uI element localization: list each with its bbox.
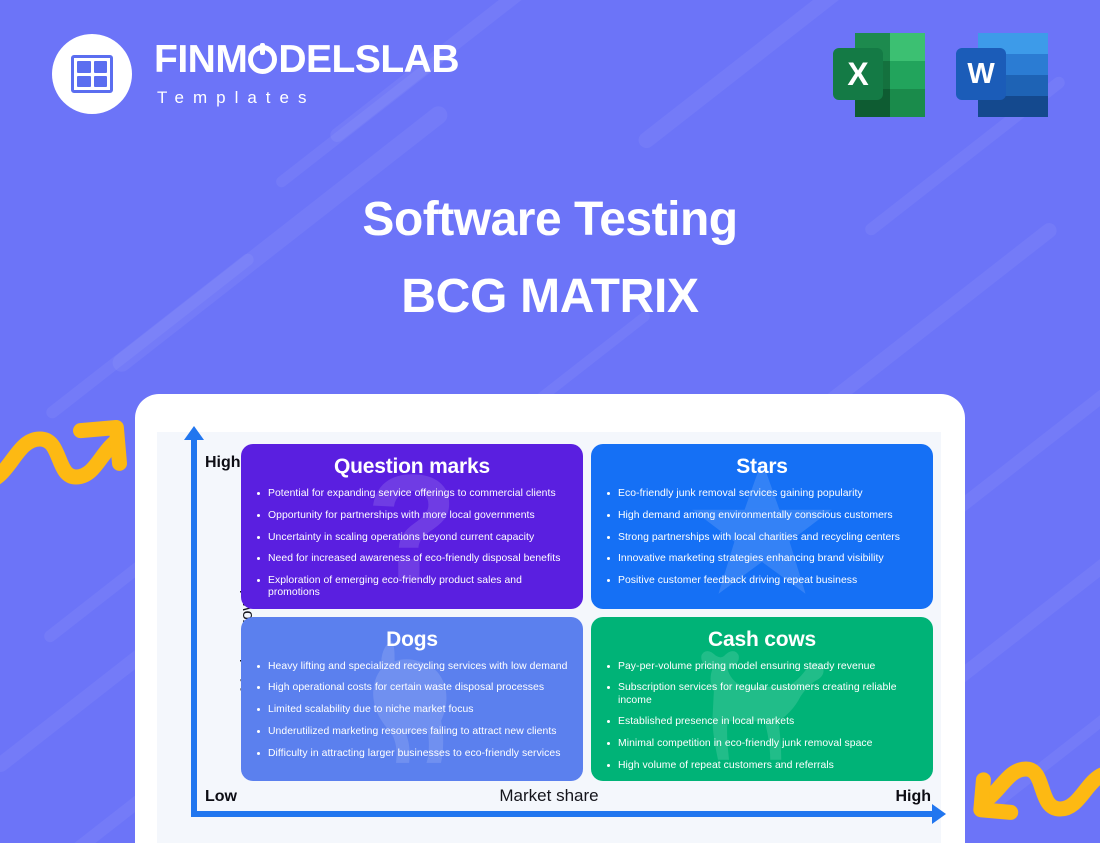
list-item: Positive customer feedback driving repea…	[605, 575, 919, 587]
list-item: High operational costs for certain waste…	[255, 682, 569, 694]
list-item: Opportunity for partnerships with more l…	[255, 510, 569, 522]
brand-o-icon	[248, 45, 277, 74]
brand-name-part2: DELSLAB	[278, 40, 459, 79]
quadrant-cash-cows[interactable]: Cash cows Pay-per-volume pricing model e…	[591, 617, 933, 782]
list-item: High demand among environmentally consci…	[605, 510, 919, 522]
list-item: Need for increased awareness of eco-frie…	[255, 553, 569, 565]
y-axis-arrow	[191, 438, 197, 811]
quadrant-stars[interactable]: Stars Eco-friendly junk removal services…	[591, 444, 933, 609]
list-item: Subscription services for regular custom…	[605, 682, 919, 707]
list-item: Innovative marketing strategies enhancin…	[605, 553, 919, 565]
quadrant-bullet-list: Eco-friendly junk removal services gaini…	[605, 488, 919, 587]
quadrant-bullet-list: Pay-per-volume pricing model ensuring st…	[605, 661, 919, 773]
list-item: Underutilized marketing resources failin…	[255, 726, 569, 738]
list-item: Difficulty in attracting larger business…	[255, 748, 569, 760]
excel-icon: X	[829, 27, 925, 123]
excel-icon-letter: X	[833, 48, 883, 100]
brand-name-part1: FINM	[154, 40, 247, 79]
quadrant-title: Stars	[605, 455, 919, 479]
page-title-block: Software Testing BCG MATRIX	[0, 192, 1100, 324]
quadrant-title: Question marks	[255, 455, 569, 479]
list-item: Eco-friendly junk removal services gaini…	[605, 488, 919, 500]
office-icons-group: X W	[829, 27, 1048, 123]
page-subtitle: BCG MATRIX	[0, 269, 1100, 324]
list-item: Minimal competition in eco-friendly junk…	[605, 738, 919, 750]
list-item: Limited scalability due to niche market …	[255, 704, 569, 716]
quadrant-grid: ? Question marks Potential for expanding…	[241, 444, 933, 781]
list-item: Pay-per-volume pricing model ensuring st…	[605, 661, 919, 673]
list-item: Heavy lifting and specialized recycling …	[255, 661, 569, 673]
quadrant-title: Dogs	[255, 628, 569, 652]
grid-logo-icon	[52, 34, 132, 114]
squiggly-arrow-down-left-icon	[968, 735, 1100, 835]
page-header: FINMDELSLAB Templates X W	[0, 0, 1100, 150]
quadrant-title: Cash cows	[605, 628, 919, 652]
brand-tagline: Templates	[157, 88, 459, 108]
brand-name: FINMDELSLAB	[154, 40, 459, 79]
quadrant-question-marks[interactable]: ? Question marks Potential for expanding…	[241, 444, 583, 609]
bcg-matrix-card: High Low High Market share Market growth…	[135, 394, 965, 843]
brand-logo[interactable]: FINMDELSLAB Templates	[52, 34, 459, 114]
list-item: Exploration of emerging eco-friendly pro…	[255, 575, 569, 600]
y-axis-high-label: High	[205, 454, 241, 472]
list-item: Uncertainty in scaling operations beyond…	[255, 532, 569, 544]
squiggly-arrow-up-right-icon	[0, 405, 130, 495]
page-title: Software Testing	[0, 192, 1100, 247]
x-axis-label: Market share	[157, 786, 941, 806]
word-icon: W	[952, 27, 1048, 123]
list-item: Strong partnerships with local charities…	[605, 532, 919, 544]
list-item: High volume of repeat customers and refe…	[605, 760, 919, 772]
list-item: Potential for expanding service offering…	[255, 488, 569, 500]
bcg-matrix-plot: High Low High Market share Market growth…	[157, 432, 941, 843]
quadrant-dogs[interactable]: Dogs Heavy lifting and specialized recyc…	[241, 617, 583, 782]
word-icon-letter: W	[956, 48, 1006, 100]
list-item: Established presence in local markets	[605, 716, 919, 728]
quadrant-bullet-list: Heavy lifting and specialized recycling …	[255, 661, 569, 760]
quadrant-bullet-list: Potential for expanding service offering…	[255, 488, 569, 600]
x-axis-arrow	[191, 811, 933, 817]
